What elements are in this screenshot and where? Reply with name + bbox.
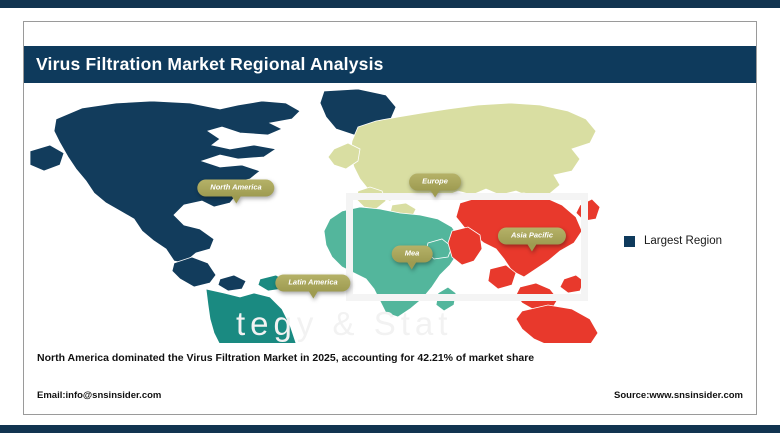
- map-label-pointer: [430, 189, 440, 197]
- map-label-pointer: [527, 243, 537, 251]
- page-bottom-rail: [0, 425, 780, 433]
- map-label-mea-text: Mea: [392, 246, 433, 263]
- legend-swatch-largest-region: [624, 236, 635, 247]
- map-label-pointer: [407, 261, 417, 269]
- map-label-europe-text: Europe: [409, 174, 461, 191]
- page-title: Virus Filtration Market Regional Analysi…: [36, 54, 384, 75]
- map-label-pointer: [231, 195, 241, 203]
- map-label-north-america[interactable]: North America: [197, 180, 274, 197]
- page-top-rail: [0, 0, 780, 8]
- map-label-asia-pacific-text: Asia Pacific: [498, 228, 566, 245]
- map-label-asia-pacific[interactable]: Asia Pacific: [498, 228, 566, 245]
- world-map: tegy & Stat North America Latin America …: [24, 83, 604, 343]
- legend-label-largest-region: Largest Region: [644, 235, 722, 247]
- map-label-mea[interactable]: Mea: [392, 246, 433, 263]
- map-label-europe[interactable]: Europe: [409, 174, 461, 191]
- caption-text: North America dominated the Virus Filtra…: [37, 352, 534, 364]
- infographic-card: Virus Filtration Market Regional Analysi…: [23, 21, 757, 415]
- footer: Email:info@snsinsider.com Source:www.sns…: [24, 390, 756, 401]
- map-region-mea[interactable]: [324, 207, 460, 317]
- map-label-latin-america[interactable]: Latin America: [275, 275, 350, 292]
- title-band: Virus Filtration Market Regional Analysi…: [24, 46, 756, 83]
- map-and-legend-area: tegy & Stat North America Latin America …: [24, 83, 756, 343]
- map-label-north-america-text: North America: [197, 180, 274, 197]
- map-label-pointer: [308, 290, 318, 298]
- legend: Largest Region: [624, 235, 722, 247]
- footer-source[interactable]: Source:www.snsinsider.com: [614, 390, 743, 401]
- footer-email[interactable]: Email:info@snsinsider.com: [37, 390, 161, 401]
- world-map-svg: [24, 83, 604, 343]
- map-label-latin-america-text: Latin America: [275, 275, 350, 292]
- map-region-asia-pacific[interactable]: [448, 193, 600, 343]
